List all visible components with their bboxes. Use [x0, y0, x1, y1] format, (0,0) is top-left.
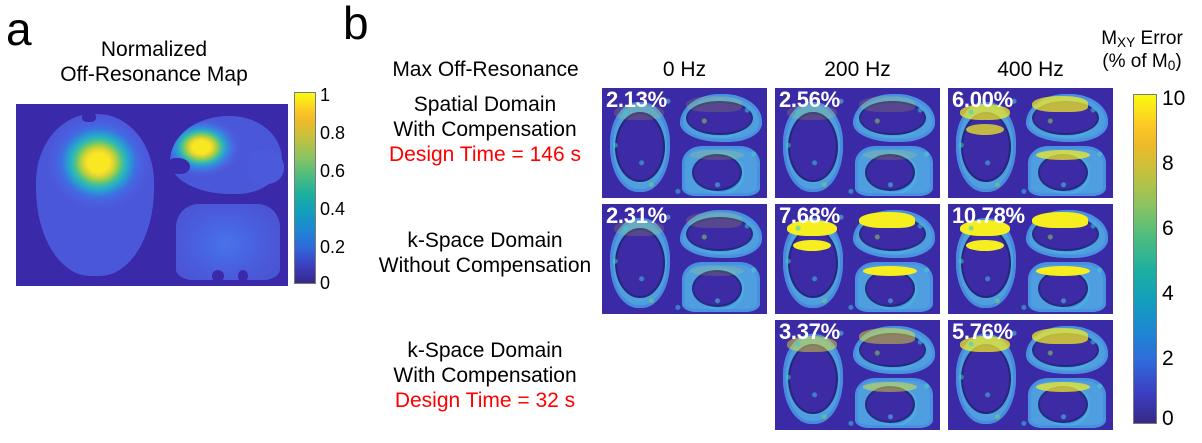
error-map-tile-r2c3: 10.78%: [948, 204, 1113, 314]
colorbar-b-tick-6: 6: [1162, 218, 1174, 239]
error-value-r1c3: 6.00%: [952, 88, 1013, 112]
colorbar-b-tick-4: 4: [1162, 283, 1174, 304]
row1-design-time: Design Time = 146 s: [370, 142, 600, 167]
error-map-tile-r3c2: 3.37%: [775, 320, 940, 430]
colorbar-b-title-line2: (% of M0): [1082, 51, 1202, 74]
column-header-200hz: 200 Hz: [775, 58, 940, 82]
row3-design-time: Design Time = 32 s: [370, 388, 600, 413]
brain-coronal-notch-right: [238, 270, 248, 282]
panel-a-title-line2: Off-Resonance Map: [26, 63, 282, 88]
panel-a-title-line1: Normalized: [26, 38, 282, 63]
hotspot-sagittal-1: [1032, 328, 1088, 344]
row1-line1: Spatial Domain: [414, 93, 556, 116]
colorbar-b-tick-10: 10: [1162, 88, 1185, 109]
colorbar-b-tick-0: 0: [1162, 408, 1174, 429]
hotspot-sagittal-1: [859, 96, 915, 112]
row3-line2: With Compensation: [393, 364, 576, 387]
brain-coronal-view: [176, 204, 280, 280]
colorbar-a-tick-0.4: 0.4: [320, 200, 345, 218]
row3-line1: k-Space Domain: [407, 339, 562, 362]
hotspot-sagittal-1: [686, 212, 742, 228]
hotspot-axial-2: [966, 124, 1004, 135]
error-value-r2c3: 10.78%: [952, 204, 1025, 228]
colorbar-a-tick-0: 0: [320, 274, 330, 292]
panel-a-title: Normalized Off-Resonance Map: [26, 38, 282, 87]
panel-b-colorbar-title: MXY Error (% of M0): [1082, 28, 1202, 73]
error-map-tile-r1c3: 6.00%: [948, 88, 1113, 198]
panel-a-colorbar: [294, 92, 316, 284]
hotspot-sagittal-1: [686, 96, 742, 112]
brain-sagittal-cerebellum: [248, 150, 284, 184]
hotspot-axial-2: [966, 240, 1004, 251]
row2-line1: k-Space Domain: [407, 229, 562, 252]
row-label-kspace-without-compensation: k-Space Domain Without Compensation: [370, 228, 600, 278]
column-header-0hz: 0 Hz: [602, 58, 767, 82]
row1-line2: With Compensation: [393, 118, 576, 141]
error-value-r3c2: 3.37%: [779, 320, 840, 344]
brain-axial-view: [36, 114, 154, 276]
error-value-r1c1: 2.13%: [606, 88, 667, 112]
error-map-tile-r3c3: 5.76%: [948, 320, 1113, 430]
hotspot-coronal-1: [1036, 382, 1090, 392]
brain-coronal-notch-left: [212, 270, 224, 282]
error-map-tile-r1c1: 2.13%: [602, 88, 767, 198]
colorbar-b-tick-2: 2: [1162, 348, 1174, 369]
hotspot-sagittal-1: [859, 212, 915, 228]
hotspot-coronal-1: [863, 150, 917, 160]
colorbar-b-title-line1: MXY Error: [1082, 28, 1202, 51]
error-map-tile-r2c2: 7.68%: [775, 204, 940, 314]
colorbar-b-tick-8: 8: [1162, 153, 1174, 174]
error-map-tile-r1c2: 2.56%: [775, 88, 940, 198]
error-value-r3c3: 5.76%: [952, 320, 1013, 344]
hotspot-coronal-1: [863, 266, 917, 276]
brain-sagittal-notch: [168, 158, 190, 174]
error-map-tile-r2c1: 2.31%: [602, 204, 767, 314]
hotspot-coronal-1: [1036, 150, 1090, 160]
row-label-kspace-with-compensation: k-Space Domain With Compensation Design …: [370, 338, 600, 414]
off-resonance-map-image: [16, 104, 288, 286]
hotspot-sagittal-1: [1032, 96, 1088, 112]
hotspot-sagittal-1: [859, 328, 915, 344]
error-value-r1c2: 2.56%: [779, 88, 840, 112]
colorbar-a-tick-0.6: 0.6: [320, 162, 345, 180]
hotspot-coronal-1: [1036, 266, 1090, 276]
row-label-spatial-with-compensation: Spatial Domain With Compensation Design …: [370, 92, 600, 168]
row2-line2: Without Compensation: [379, 254, 591, 277]
brain-axial-notch: [82, 112, 96, 122]
colorbar-a-tick-0.8: 0.8: [320, 124, 345, 142]
panel-b-letter: b: [343, 0, 369, 46]
hotspot-coronal-1: [863, 382, 917, 392]
hotspot-coronal-1: [690, 266, 744, 276]
hotspot-axial-2: [793, 240, 831, 251]
hotspot-sagittal-1: [1032, 212, 1088, 228]
hotspot-coronal-1: [690, 150, 744, 160]
colorbar-a-tick-1: 1: [320, 86, 330, 104]
panel-b-colorbar: [1133, 94, 1157, 424]
error-map-tile-r3c1-empty: [602, 320, 767, 430]
error-value-r2c1: 2.31%: [606, 204, 667, 228]
error-value-r2c2: 7.68%: [779, 204, 840, 228]
max-off-resonance-label: Max Off-Resonance: [373, 58, 598, 82]
colorbar-a-tick-0.2: 0.2: [320, 238, 345, 256]
